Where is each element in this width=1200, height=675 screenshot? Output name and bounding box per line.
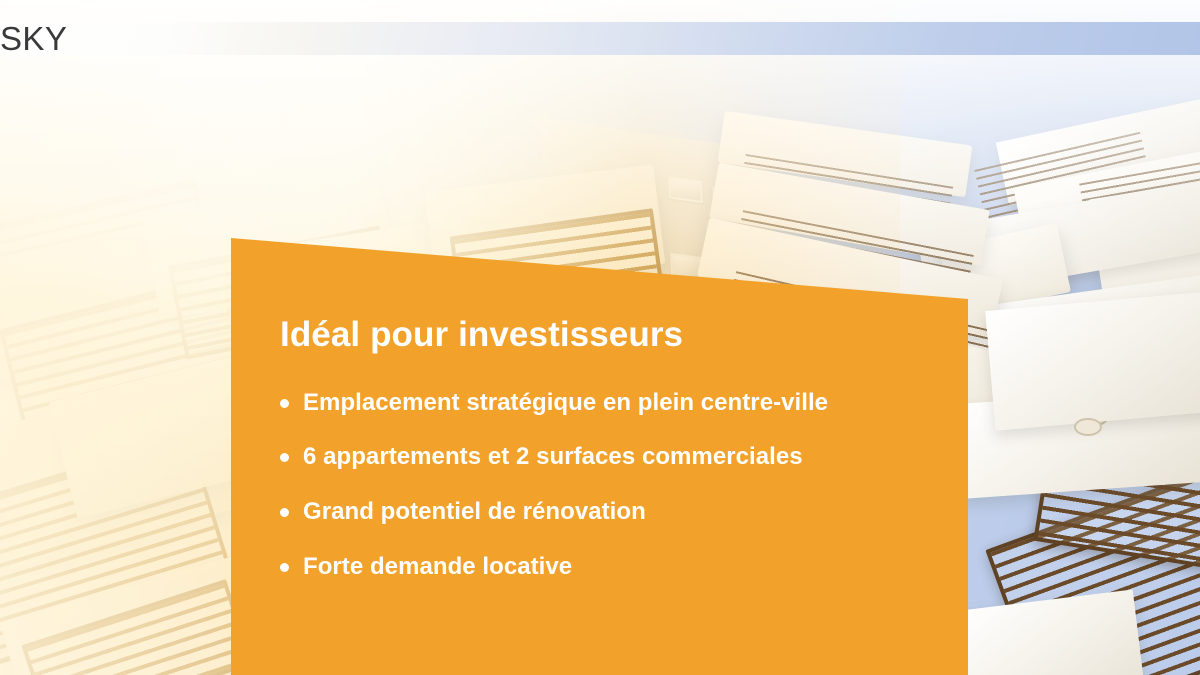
list-item-label: Forte demande locative <box>303 553 572 582</box>
window <box>668 176 703 203</box>
bullet-dot-icon <box>280 399 289 408</box>
brand-name: IMMOSKY <box>576 22 667 55</box>
list-item: 6 appartements et 2 surfaces commerciale… <box>280 443 944 472</box>
list-item-label: Grand potentiel de rénovation <box>303 498 646 527</box>
list-item: Forte demande locative <box>280 553 944 582</box>
slide-canvas: IMMOSKY Idéal pour investisseurs Emplace… <box>0 0 1200 675</box>
list-item: Grand potentiel de rénovation <box>280 498 944 527</box>
brand-logo[interactable]: IMMOSKY <box>0 22 1200 55</box>
wall-light-icon <box>1074 418 1102 436</box>
bullet-dot-icon <box>280 508 289 517</box>
balcony-slab <box>985 289 1200 430</box>
brand-name-sky: SKY <box>0 22 1200 55</box>
list-item-label: Emplacement stratégique en plein centre-… <box>303 389 828 418</box>
list-item: Emplacement stratégique en plein centre-… <box>280 389 944 418</box>
highlight-panel: Idéal pour investisseurs Emplacement str… <box>231 232 968 675</box>
bullet-dot-icon <box>280 563 289 572</box>
panel-title: Idéal pour investisseurs <box>280 316 944 355</box>
panel-content: Idéal pour investisseurs Emplacement str… <box>280 316 944 608</box>
list-item-label: 6 appartements et 2 surfaces commerciale… <box>303 443 803 472</box>
feature-list: Emplacement stratégique en plein centre-… <box>280 389 944 582</box>
bullet-dot-icon <box>280 453 289 462</box>
